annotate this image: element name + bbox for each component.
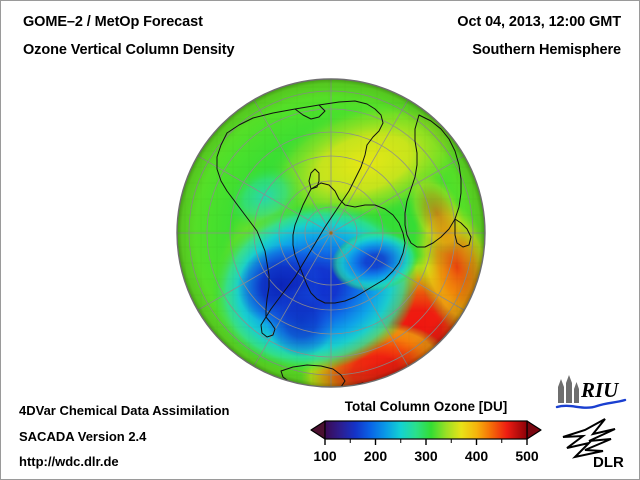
header-hemisphere: Southern Hemisphere bbox=[472, 42, 621, 58]
colorbar: Total Column Ozone [DU] bbox=[307, 399, 545, 469]
header-timestamp: Oct 04, 2013, 12:00 GMT bbox=[457, 14, 621, 30]
colorbar-tick-label-3: 400 bbox=[465, 448, 489, 464]
colorbar-tick-label-1: 200 bbox=[364, 448, 388, 464]
colorbar-tick-label-0: 100 bbox=[313, 448, 337, 464]
new-zealand bbox=[405, 377, 419, 388]
header-subtitle-left: Ozone Vertical Column Density bbox=[23, 42, 234, 58]
dlr-logo: DLR bbox=[559, 417, 629, 471]
colorbar-tick-label-2: 300 bbox=[414, 448, 438, 464]
colorbar-cap-high bbox=[527, 421, 541, 439]
colorbar-gradient bbox=[325, 421, 527, 439]
colorbar-tick-label-4: 500 bbox=[515, 448, 539, 464]
dlr-pinwheel-icon bbox=[563, 419, 615, 457]
colorbar-title: Total Column Ozone [DU] bbox=[307, 399, 545, 414]
riu-towers-icon bbox=[558, 375, 579, 403]
globe-map bbox=[169, 71, 493, 395]
header-title-left: GOME–2 / MetOp Forecast bbox=[23, 14, 203, 30]
footer-line-method: 4DVar Chemical Data Assimilation bbox=[19, 403, 230, 418]
colorbar-major-ticks bbox=[325, 439, 527, 445]
ozone-forecast-figure: GOME–2 / MetOp Forecast Ozone Vertical C… bbox=[0, 0, 640, 480]
footer-line-url[interactable]: http://wdc.dlr.de bbox=[19, 454, 119, 469]
south-pole-marker bbox=[329, 231, 332, 234]
footer-line-version: SACADA Version 2.4 bbox=[19, 429, 146, 444]
riu-logo: RIU bbox=[553, 373, 627, 413]
logo-group: RIU DLR bbox=[553, 373, 631, 471]
dlr-wordmark: DLR bbox=[593, 454, 624, 471]
colorbar-cap-low bbox=[311, 421, 325, 439]
riu-wordmark: RIU bbox=[580, 378, 620, 402]
